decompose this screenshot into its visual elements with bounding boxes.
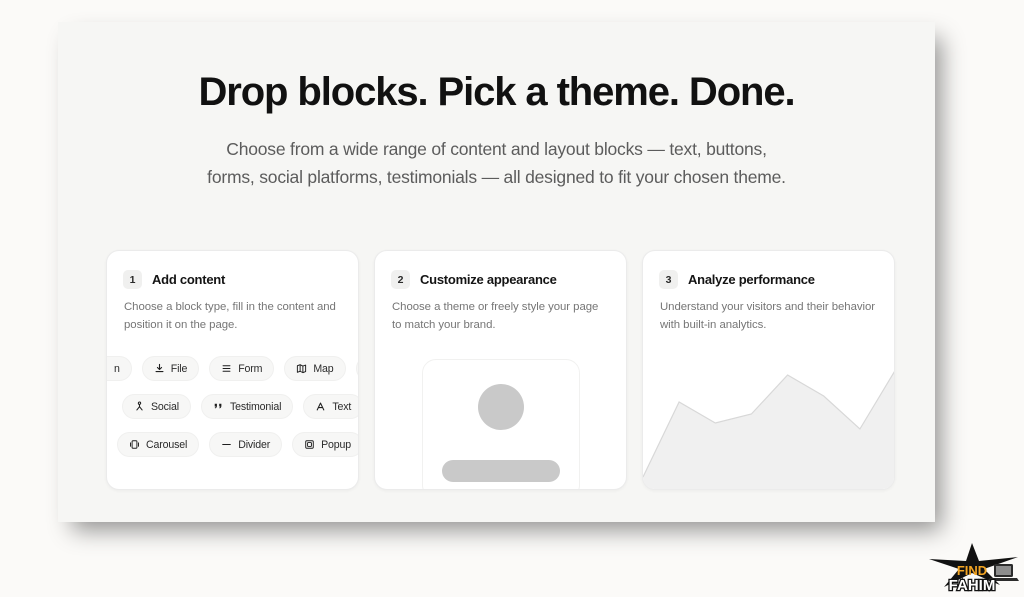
page-subtitle-line-1: Choose from a wide range of content and …: [58, 136, 935, 164]
partial-left-icon: [106, 363, 108, 374]
chip-label: File: [171, 363, 187, 375]
card-description: Understand your visitors and their behav…: [643, 289, 894, 335]
chip-label: Divider: [238, 439, 270, 451]
block-chip-row-2: Social Testimonial Text: [122, 394, 359, 419]
chip-label: Carousel: [146, 439, 187, 451]
watermark-line-2: FAHIM: [949, 577, 996, 594]
chip-label: Popup: [321, 439, 351, 451]
chart-area-fill: [643, 369, 895, 489]
block-chip-row-1: n File Form: [106, 356, 359, 381]
chip-label: Text: [332, 401, 351, 413]
analytics-area-chart: [643, 339, 895, 489]
card-header: 1 Add content: [107, 251, 358, 289]
page-title: Drop blocks. Pick a theme. Done.: [58, 70, 935, 114]
block-chip-social[interactable]: Social: [122, 394, 191, 419]
preview-button-placeholder: [442, 460, 560, 482]
step-card-customize-appearance[interactable]: 2 Customize appearance Choose a theme or…: [374, 250, 627, 490]
theme-preview-mockup: [422, 359, 580, 490]
card-description: Choose a theme or freely style your page…: [375, 289, 626, 335]
step-card-analyze-performance[interactable]: 3 Analyze performance Understand your vi…: [642, 250, 895, 490]
block-chip-carousel[interactable]: Carousel: [117, 432, 199, 457]
download-icon: [154, 363, 165, 374]
block-chip-row-3: Carousel Divider Popup: [117, 432, 359, 457]
block-chip-form[interactable]: Form: [209, 356, 274, 381]
page-subtitle: Choose from a wide range of content and …: [58, 136, 935, 191]
block-chips-area: n File Form: [107, 351, 359, 490]
step-number-badge: 1: [123, 270, 142, 289]
letter-a-icon: [315, 401, 326, 412]
card-header: 3 Analyze performance: [643, 251, 894, 289]
card-title: Add content: [152, 272, 225, 287]
step-number-badge: 2: [391, 270, 410, 289]
step-number-badge: 3: [659, 270, 678, 289]
card-header: 2 Customize appearance: [375, 251, 626, 289]
card-title: Analyze performance: [688, 272, 815, 287]
chip-label: n: [114, 363, 120, 375]
steps-card-row: 1 Add content Choose a block type, fill …: [106, 250, 896, 490]
chip-label: Form: [238, 363, 262, 375]
popup-icon: [304, 439, 315, 450]
block-chip-popup[interactable]: Popup: [292, 432, 359, 457]
analytics-chart-svg: [643, 339, 895, 489]
block-chip-partial-left[interactable]: n: [106, 356, 132, 381]
card-description: Choose a block type, fill in the content…: [107, 289, 358, 335]
block-chip-partial-right[interactable]: [356, 356, 359, 381]
slide-panel: Drop blocks. Pick a theme. Done. Choose …: [58, 22, 935, 522]
chip-label: Social: [151, 401, 179, 413]
share-icon: [134, 401, 145, 412]
block-chip-file[interactable]: File: [142, 356, 199, 381]
block-chip-map[interactable]: Map: [284, 356, 345, 381]
list-icon: [221, 363, 232, 374]
carousel-icon: [129, 439, 140, 450]
block-chip-divider[interactable]: Divider: [209, 432, 282, 457]
map-icon: [296, 363, 307, 374]
preview-avatar-placeholder: [478, 384, 524, 430]
quote-icon: [213, 401, 224, 412]
block-chip-text[interactable]: Text: [303, 394, 359, 419]
chip-label: Testimonial: [230, 401, 281, 413]
watermark-logo: FIND FAHIM: [926, 537, 1020, 595]
watermark-line-1: FIND: [957, 563, 987, 578]
step-card-add-content[interactable]: 1 Add content Choose a block type, fill …: [106, 250, 359, 490]
chip-label: Map: [313, 363, 333, 375]
card-title: Customize appearance: [420, 272, 557, 287]
page-subtitle-line-2: forms, social platforms, testimonials — …: [58, 164, 935, 192]
block-chip-testimonial[interactable]: Testimonial: [201, 394, 293, 419]
dash-icon: [221, 439, 232, 450]
hero-section: Drop blocks. Pick a theme. Done. Choose …: [58, 70, 935, 191]
